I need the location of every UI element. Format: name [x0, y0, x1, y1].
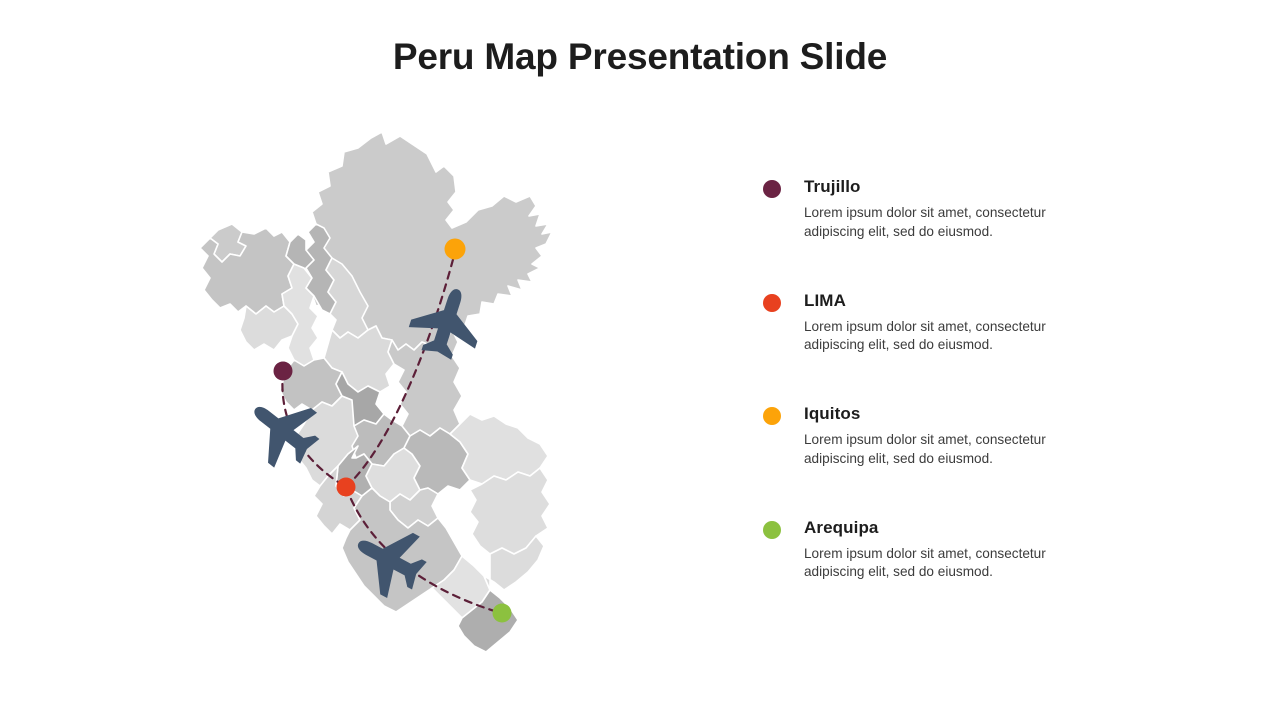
city-legend: Trujillo Lorem ipsum dolor sit amet, con…	[760, 176, 1180, 582]
legend-item-iquitos[interactable]: Iquitos Lorem ipsum dolor sit amet, cons…	[760, 403, 1180, 468]
map-marker-arequipa[interactable]	[493, 604, 512, 623]
legend-item-description: Lorem ipsum dolor sit amet, consectetur …	[804, 545, 1080, 582]
legend-item-label: Trujillo	[804, 176, 1180, 197]
legend-item-lima[interactable]: LIMA Lorem ipsum dolor sit amet, consect…	[760, 290, 1180, 355]
legend-dot-icon	[763, 294, 781, 312]
page-title: Peru Map Presentation Slide	[0, 33, 1280, 81]
map-marker-trujillo[interactable]	[274, 362, 293, 381]
legend-dot-icon	[763, 521, 781, 539]
legend-item-arequipa[interactable]: Arequipa Lorem ipsum dolor sit amet, con…	[760, 517, 1180, 582]
peru-map-svg	[196, 124, 600, 688]
region-piura[interactable]	[200, 228, 294, 314]
map-marker-lima[interactable]	[337, 478, 356, 497]
legend-dot-icon	[763, 407, 781, 425]
legend-item-description: Lorem ipsum dolor sit amet, consectetur …	[804, 204, 1080, 241]
map-regions	[200, 132, 552, 652]
legend-item-description: Lorem ipsum dolor sit amet, consectetur …	[804, 431, 1080, 468]
legend-dot-icon	[763, 180, 781, 198]
legend-item-label: Arequipa	[804, 517, 1180, 538]
presentation-slide: Peru Map Presentation Slide	[0, 0, 1280, 720]
map-marker-iquitos[interactable]	[445, 239, 466, 260]
legend-item-label: LIMA	[804, 290, 1180, 311]
peru-map[interactable]	[196, 124, 600, 688]
legend-item-label: Iquitos	[804, 403, 1180, 424]
legend-item-description: Lorem ipsum dolor sit amet, consectetur …	[804, 318, 1080, 355]
legend-item-trujillo[interactable]: Trujillo Lorem ipsum dolor sit amet, con…	[760, 176, 1180, 241]
